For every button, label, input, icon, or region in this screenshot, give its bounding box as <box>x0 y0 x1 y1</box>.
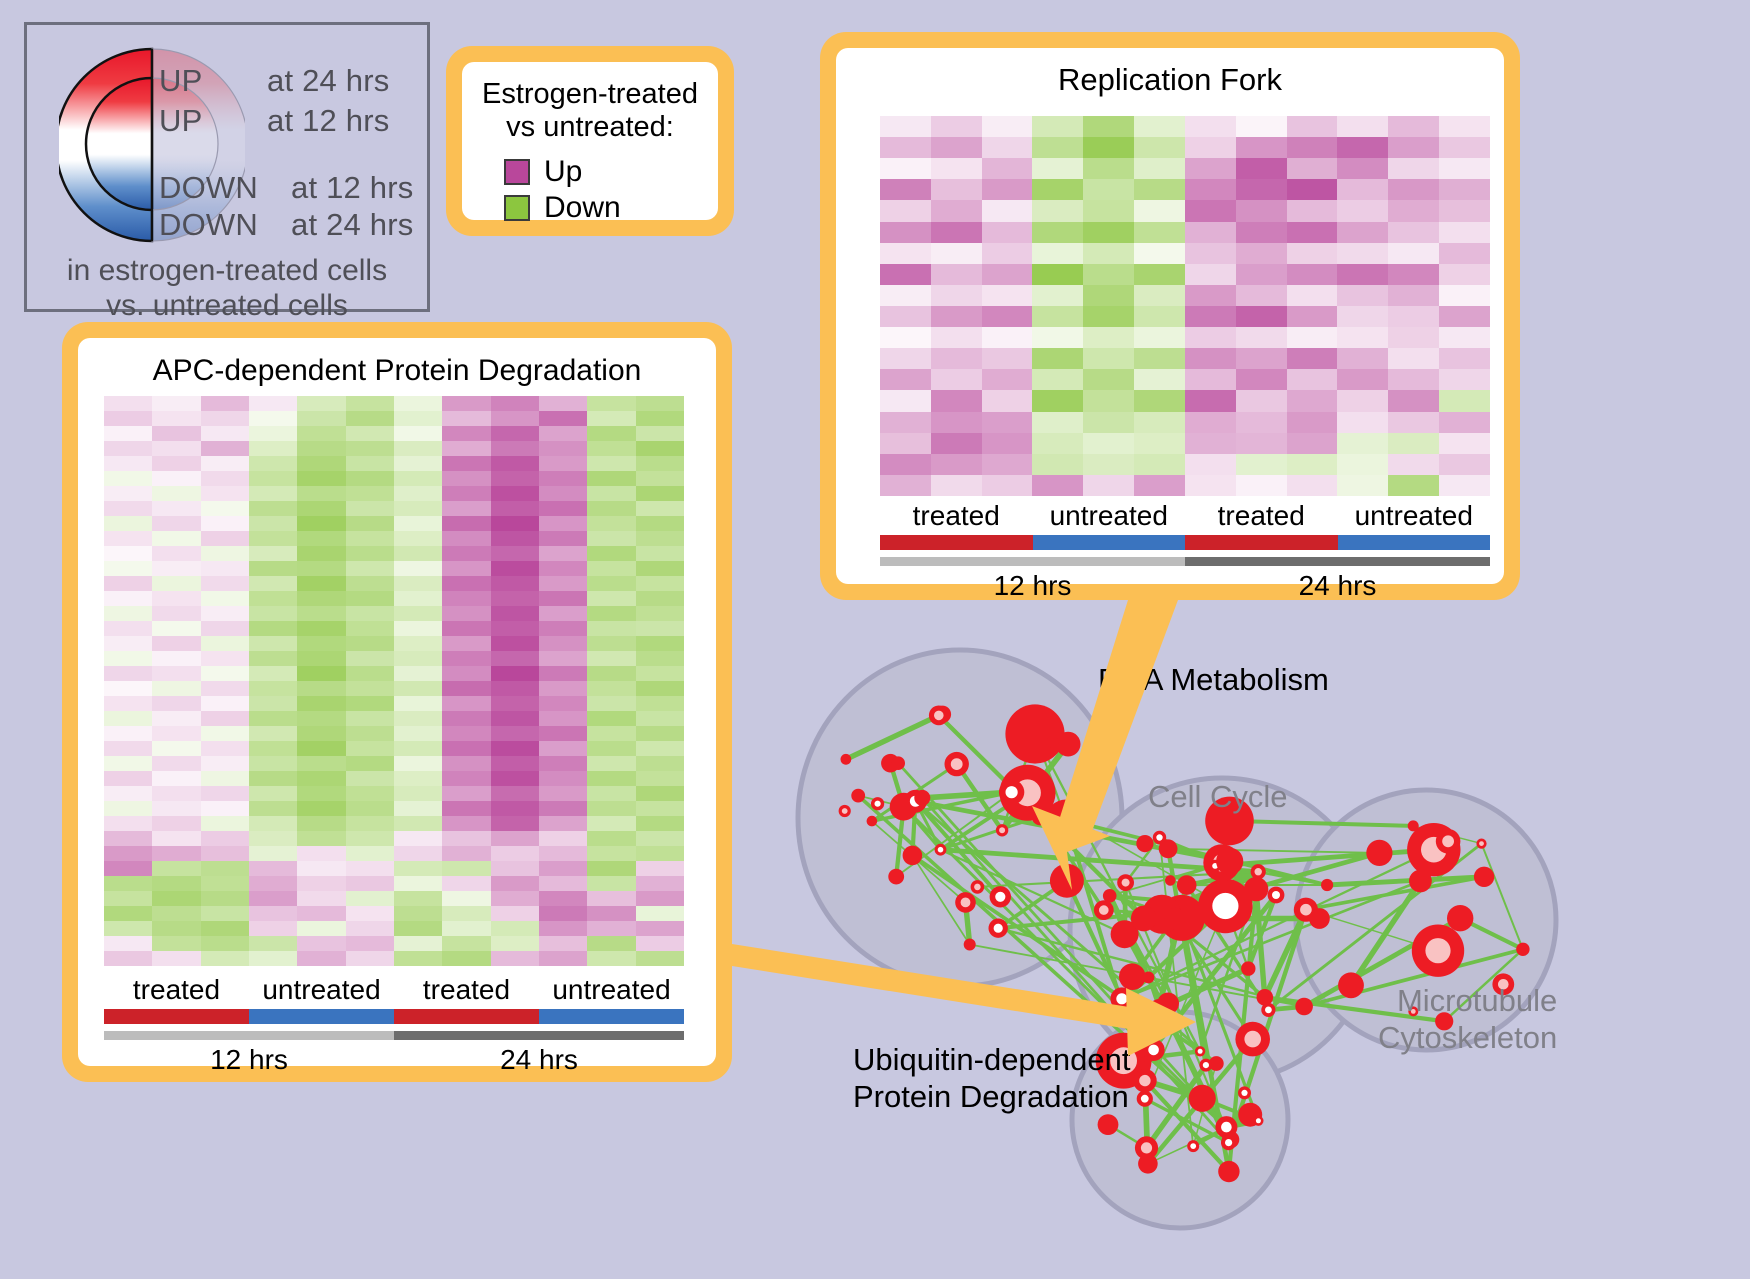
heatmap-cell <box>636 801 684 816</box>
heatmap-cell <box>152 501 200 516</box>
heatmap-cell <box>1439 390 1490 411</box>
heatmap-cell <box>152 951 200 966</box>
heatmap-cell <box>491 951 539 966</box>
heatmap-cell <box>1337 264 1388 285</box>
heatmap-cell <box>152 696 200 711</box>
heatmap-cell <box>491 636 539 651</box>
heatmap-cell <box>1287 412 1338 433</box>
network-node[interactable] <box>891 756 905 770</box>
network-node-core <box>1099 905 1109 915</box>
network-node-core <box>875 801 881 807</box>
heatmap-cell <box>1236 285 1287 306</box>
heatmap-cell <box>297 546 345 561</box>
heatmap-cell <box>1185 348 1236 369</box>
network-node[interactable] <box>1046 800 1086 840</box>
heatmap-cell <box>201 801 249 816</box>
heatmap-cell <box>880 243 931 264</box>
treatment-color-bar <box>880 535 1490 550</box>
heatmap-cell <box>152 816 200 831</box>
network-node[interactable] <box>1295 998 1313 1016</box>
heatmap-cell <box>297 666 345 681</box>
heatmap-cell <box>587 711 635 726</box>
heatmap-cell <box>491 921 539 936</box>
network-node-core <box>995 892 1005 902</box>
heatmap-cell <box>1032 306 1083 327</box>
heatmap-cell <box>152 801 200 816</box>
heatmap-cell <box>491 621 539 636</box>
heatmap-cell <box>1185 475 1236 496</box>
heatmap-cell <box>1083 264 1134 285</box>
heatmap-cell <box>1185 200 1236 221</box>
heatmap-cell <box>1083 327 1134 348</box>
heatmap-cell <box>152 711 200 726</box>
heatmap-cell <box>249 741 297 756</box>
network-node[interactable] <box>1164 908 1186 930</box>
heatmap-cell <box>636 786 684 801</box>
treatment-label: untreated <box>539 974 684 1009</box>
heatmap-cell <box>201 771 249 786</box>
heatmap-cell <box>1185 222 1236 243</box>
heatmap-cell <box>1032 243 1083 264</box>
network-node[interactable] <box>1143 972 1155 984</box>
heatmap-cell <box>1287 454 1338 475</box>
network-node[interactable] <box>1338 972 1364 998</box>
heatmap-cell <box>587 651 635 666</box>
heatmap-cell <box>152 771 200 786</box>
heatmap-replication-fork <box>880 116 1490 496</box>
legend-item-up-label: Up <box>544 155 582 189</box>
network-node-core <box>1221 1122 1232 1133</box>
heatmap-cell <box>539 396 587 411</box>
heatmap-cell <box>1185 264 1236 285</box>
network-node[interactable] <box>1050 864 1084 898</box>
heatmap-cell <box>587 936 635 951</box>
heatmap-cell <box>297 741 345 756</box>
heatmap-cell <box>491 561 539 576</box>
heatmap-cell <box>442 501 490 516</box>
heatmap-cell <box>491 891 539 906</box>
heatmap-cell <box>1337 243 1388 264</box>
heatmap-cell <box>931 179 982 200</box>
heatmap-cell <box>201 621 249 636</box>
bar-segment-12hrs <box>104 1031 394 1040</box>
network-node[interactable] <box>1474 867 1494 887</box>
heatmap-cell <box>152 831 200 846</box>
heatmap-cell <box>201 951 249 966</box>
network-node[interactable] <box>888 869 904 885</box>
heatmap-cell <box>1032 158 1083 179</box>
heatmap-cell <box>1236 116 1287 137</box>
heatmap-cell <box>249 681 297 696</box>
heatmap-cell <box>1134 158 1185 179</box>
heatmap-cell <box>201 726 249 741</box>
heatmap-cell <box>394 531 442 546</box>
network-node-core <box>1265 1007 1272 1014</box>
network-node[interactable] <box>1447 905 1473 931</box>
heatmap-cell <box>249 771 297 786</box>
heatmap-cell <box>394 846 442 861</box>
heatmap-cell <box>636 936 684 951</box>
heatmap-cell <box>346 696 394 711</box>
heatmap-cell <box>394 621 442 636</box>
network-node[interactable] <box>851 789 865 803</box>
heatmap-cell <box>1083 348 1134 369</box>
network-node[interactable] <box>964 939 976 951</box>
network-node[interactable] <box>1056 732 1081 757</box>
heatmap-cell <box>249 846 297 861</box>
heatmap-cell <box>442 531 490 546</box>
heatmap-cell <box>152 681 200 696</box>
network-node-core <box>1141 1142 1152 1153</box>
heatmap-cell <box>249 606 297 621</box>
heatmap-cell <box>346 936 394 951</box>
heatmap-cell <box>346 576 394 591</box>
heatmap-cell <box>636 456 684 471</box>
heatmap-cell <box>982 412 1033 433</box>
heatmap-cell <box>587 636 635 651</box>
heatmap-cell <box>982 116 1033 137</box>
heatmap-cell <box>346 846 394 861</box>
heatmap-cell <box>346 411 394 426</box>
heatmap-cell <box>104 936 152 951</box>
heatmap-cell <box>249 891 297 906</box>
heatmap-cell <box>394 471 442 486</box>
heatmap-cell <box>1083 200 1134 221</box>
heatmap-cell <box>636 441 684 456</box>
heatmap-cell <box>201 636 249 651</box>
network-node[interactable] <box>1216 848 1243 875</box>
heatmap-cell <box>442 456 490 471</box>
heatmap-cell <box>1083 158 1134 179</box>
heatmap-cell <box>442 936 490 951</box>
legend-item-down: Down <box>504 191 704 225</box>
heatmap-cell <box>880 285 931 306</box>
heatmap-cell <box>587 786 635 801</box>
heatmap-cell <box>152 786 200 801</box>
heatmap-cell <box>249 666 297 681</box>
heatmap-cell <box>201 531 249 546</box>
network-node[interactable] <box>1136 835 1153 852</box>
heatmap-cell <box>1287 348 1338 369</box>
heatmap-cell <box>104 591 152 606</box>
heatmap-cell <box>152 906 200 921</box>
poster-canvas: UP at 24 hrs UP at 12 hrs DOWN at 12 hrs… <box>0 0 1750 1279</box>
heatmap-cell <box>636 921 684 936</box>
heatmap-cell <box>442 831 490 846</box>
heatmap-cell <box>394 561 442 576</box>
heatmap-cell <box>442 816 490 831</box>
heatmap-cell <box>249 831 297 846</box>
network-node[interactable] <box>1150 999 1169 1018</box>
heatmap-cell <box>1388 475 1439 496</box>
heatmap-cell <box>539 831 587 846</box>
heatmap-cell <box>249 861 297 876</box>
network-node[interactable] <box>867 816 878 827</box>
heatmap-cell <box>491 786 539 801</box>
heatmap-cell <box>297 486 345 501</box>
heatmap-cell <box>297 576 345 591</box>
heatmap-cell <box>104 906 152 921</box>
heatmap-cell <box>1032 475 1083 496</box>
heatmap-cell <box>491 876 539 891</box>
heatmap-cell <box>931 243 982 264</box>
heatmap-cell <box>249 876 297 891</box>
heatmap-cell <box>587 456 635 471</box>
heatmap-cell <box>297 516 345 531</box>
heatmap-cell <box>442 561 490 576</box>
heatmap-cell <box>1337 433 1388 454</box>
heatmap-cell <box>931 369 982 390</box>
heatmap-cell <box>539 546 587 561</box>
heatmap-cell <box>442 861 490 876</box>
network-node[interactable] <box>1189 1085 1216 1112</box>
heatmap-cell <box>1185 306 1236 327</box>
heatmap-cell <box>394 876 442 891</box>
network-node[interactable] <box>1257 989 1274 1006</box>
network-node[interactable] <box>1165 875 1176 886</box>
heatmap-cell <box>636 486 684 501</box>
heatmap-cell <box>297 711 345 726</box>
heatmap-cell <box>880 179 931 200</box>
heatmap-cell <box>394 831 442 846</box>
panel-apc-dependent-protein-degradation: APC-dependent Protein Degradation treate… <box>62 322 732 1082</box>
heatmap-cell <box>249 486 297 501</box>
heatmap-cell <box>152 561 200 576</box>
network-node[interactable] <box>1209 1056 1224 1071</box>
heatmap-cell <box>539 621 587 636</box>
heatmap-cell <box>394 756 442 771</box>
heatmap-cell <box>1439 116 1490 137</box>
heatmap-cell <box>297 411 345 426</box>
heatmap-cell <box>1439 454 1490 475</box>
network-node[interactable] <box>1218 1161 1239 1182</box>
network-node[interactable] <box>1005 704 1064 763</box>
heatmap-cell <box>587 831 635 846</box>
heatmap-cell <box>346 546 394 561</box>
heatmap-cell <box>104 546 152 561</box>
heatmap-cell <box>491 771 539 786</box>
heatmap-cell <box>1134 222 1185 243</box>
heatmap-cell <box>297 771 345 786</box>
network-node[interactable] <box>1047 736 1059 748</box>
heatmap-cell <box>636 666 684 681</box>
heatmap-cell <box>346 921 394 936</box>
heatmap-cell <box>1083 369 1134 390</box>
heatmap-cell <box>297 846 345 861</box>
ring-label-at-12hrs-up: at 12 hrs <box>267 103 389 139</box>
heatmap-cell <box>394 486 442 501</box>
heatmap-cell <box>931 433 982 454</box>
heatmap-cell <box>587 741 635 756</box>
heatmap-cell <box>587 516 635 531</box>
network-node[interactable] <box>903 846 923 866</box>
network-node[interactable] <box>1516 943 1529 956</box>
heatmap-cell <box>201 441 249 456</box>
heatmap-cell <box>1388 243 1439 264</box>
timepoint-label: 12 hrs <box>104 1044 394 1076</box>
network-node[interactable] <box>841 754 852 765</box>
heatmap-cell <box>491 861 539 876</box>
heatmap-cell <box>1236 200 1287 221</box>
ring-label-up-24hrs: UP <box>159 63 202 99</box>
heatmap-cell <box>491 666 539 681</box>
heatmap-cell <box>587 846 635 861</box>
cluster-label-dna-metabolism: DNA Metabolism <box>1098 662 1329 698</box>
heatmap-cell <box>249 801 297 816</box>
heatmap-cell <box>201 786 249 801</box>
heatmap-cell <box>1083 306 1134 327</box>
heatmap-cell <box>394 441 442 456</box>
heatmap-cell <box>1337 306 1388 327</box>
network-node[interactable] <box>914 790 930 806</box>
timepoint-labels: 12 hrs 24 hrs <box>104 1044 684 1076</box>
heatmap-cell <box>104 666 152 681</box>
heatmap-cell <box>201 501 249 516</box>
network-node[interactable] <box>1366 840 1392 866</box>
heatmap-cell <box>297 801 345 816</box>
heatmap-cell <box>587 771 635 786</box>
heatmap-cell <box>491 471 539 486</box>
heatmap-cell <box>491 411 539 426</box>
network-node[interactable] <box>1103 889 1117 903</box>
heatmap-cell <box>1388 285 1439 306</box>
heatmap-cell <box>539 726 587 741</box>
heatmap-cell <box>1337 369 1388 390</box>
heatmap-cell <box>636 426 684 441</box>
heatmap-cell <box>394 861 442 876</box>
network-node[interactable] <box>1309 908 1330 929</box>
network-node[interactable] <box>1031 807 1049 825</box>
heatmap-cell <box>201 891 249 906</box>
heatmap-cell <box>587 696 635 711</box>
heatmap-cell <box>1287 327 1338 348</box>
heatmap-cell <box>1236 433 1287 454</box>
heatmap-cell <box>587 396 635 411</box>
heatmap-cell <box>587 906 635 921</box>
network-node[interactable] <box>1408 820 1419 831</box>
treatment-label: untreated <box>1033 500 1186 535</box>
network-node[interactable] <box>1119 963 1146 990</box>
heatmap-cell <box>982 390 1033 411</box>
network-node-core <box>938 847 944 853</box>
heatmap-cell <box>297 831 345 846</box>
heatmap-cell <box>982 306 1033 327</box>
heatmap-cell <box>346 951 394 966</box>
treatment-label: treated <box>1185 500 1338 535</box>
expression-legend-card: Estrogen-treated vs untreated: Up Down <box>446 46 734 236</box>
heatmap-cell <box>104 771 152 786</box>
heatmap-cell <box>442 441 490 456</box>
heatmap-cell <box>636 501 684 516</box>
heatmap-cell <box>1236 369 1287 390</box>
network-node[interactable] <box>1177 875 1197 895</box>
network-node[interactable] <box>1409 870 1432 893</box>
heatmap-cell <box>1134 116 1185 137</box>
heatmap-cell <box>442 756 490 771</box>
heatmap-cell <box>442 621 490 636</box>
timepoint-color-bar <box>880 557 1490 566</box>
heatmap-cell <box>152 606 200 621</box>
heatmap-cell <box>1134 179 1185 200</box>
heatmap-cell <box>297 681 345 696</box>
heatmap-cell <box>346 771 394 786</box>
network-node[interactable] <box>1241 961 1255 975</box>
heatmap-cell <box>201 486 249 501</box>
heatmap-cell <box>539 411 587 426</box>
network-node[interactable] <box>1244 877 1268 901</box>
bar-segment-untreated <box>539 1009 684 1024</box>
heatmap-cell <box>1439 137 1490 158</box>
heatmap-cell <box>104 801 152 816</box>
heatmap-cell <box>201 816 249 831</box>
heatmap-cell <box>249 456 297 471</box>
heatmap-cell <box>152 846 200 861</box>
heatmap-cell <box>249 921 297 936</box>
heatmap-cell <box>587 426 635 441</box>
heatmap-cell <box>1134 454 1185 475</box>
heatmap-cell <box>982 348 1033 369</box>
heatmap-cell <box>587 471 635 486</box>
heatmap-cell <box>346 681 394 696</box>
heatmap-cell <box>636 411 684 426</box>
network-node[interactable] <box>1321 879 1333 891</box>
heatmap-cell <box>249 501 297 516</box>
heatmap-cell <box>931 116 982 137</box>
heatmap-cell <box>1032 285 1083 306</box>
heatmap-cell <box>1032 116 1083 137</box>
heatmap-cell <box>1337 454 1388 475</box>
heatmap-cell <box>636 831 684 846</box>
heatmap-cell <box>394 816 442 831</box>
heatmap-cell <box>394 606 442 621</box>
heatmap-cell <box>1439 369 1490 390</box>
heatmap-cell <box>201 651 249 666</box>
network-node[interactable] <box>1131 906 1157 932</box>
heatmap-cell <box>346 471 394 486</box>
heatmap-cell <box>394 636 442 651</box>
heatmap-cell <box>1032 200 1083 221</box>
heatmap-cell <box>201 666 249 681</box>
heatmap-cell <box>491 936 539 951</box>
heatmap-cell <box>201 516 249 531</box>
heatmap-cell <box>636 771 684 786</box>
network-node-core <box>974 884 981 891</box>
heatmap-cell <box>1236 390 1287 411</box>
ring-caption-line-2: vs. untreated cells <box>27 288 427 323</box>
heatmap-cell <box>1185 327 1236 348</box>
heatmap-cell <box>1337 137 1388 158</box>
heatmap-cell <box>539 951 587 966</box>
heatmap-cell <box>297 471 345 486</box>
heatmap-cell <box>249 516 297 531</box>
heatmap-cell <box>104 831 152 846</box>
heatmap-cell <box>249 951 297 966</box>
ring-label-at-24hrs-up: at 24 hrs <box>267 63 389 99</box>
heatmap-cell <box>152 471 200 486</box>
heatmap-cell <box>201 696 249 711</box>
heatmap-cell <box>636 891 684 906</box>
heatmap-cell <box>636 726 684 741</box>
heatmap-cell <box>297 861 345 876</box>
heatmap-cell <box>539 636 587 651</box>
heatmap-cell <box>539 651 587 666</box>
network-node-core <box>1148 1045 1159 1056</box>
heatmap-cell <box>1134 306 1185 327</box>
timepoint-label: 24 hrs <box>1185 570 1490 602</box>
panel-replication-fork: Replication Fork treated untreated treat… <box>820 32 1520 600</box>
heatmap-cell <box>442 711 490 726</box>
network-node[interactable] <box>1098 1114 1119 1135</box>
